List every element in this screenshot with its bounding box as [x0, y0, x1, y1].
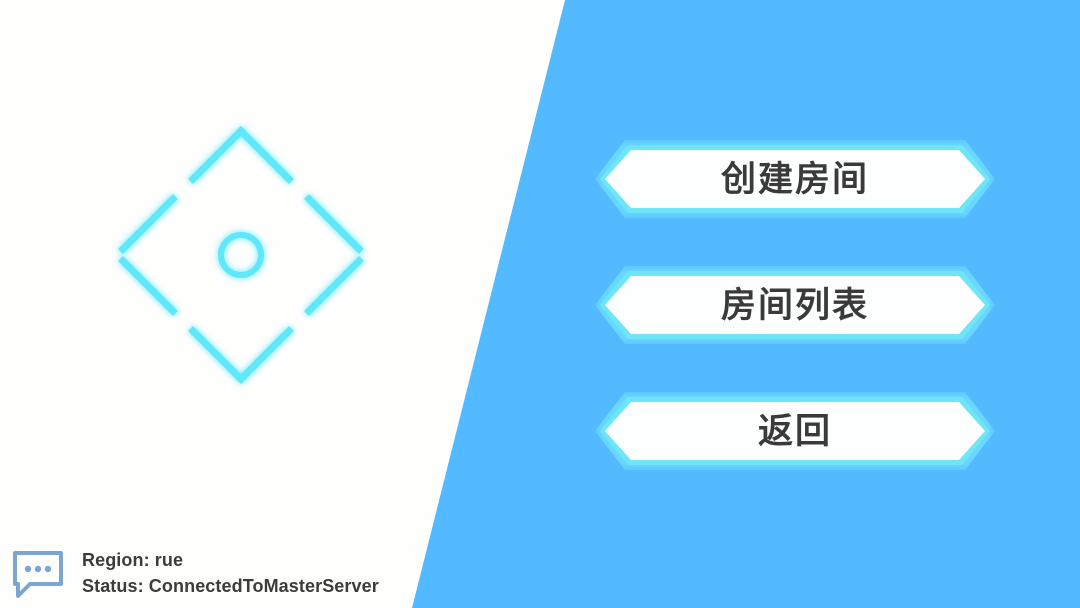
diamond-logo: [105, 119, 377, 403]
room-list-button[interactable]: 房间列表: [600, 271, 990, 339]
create-room-button[interactable]: 创建房间: [600, 145, 990, 213]
back-label: 返回: [600, 397, 990, 465]
back-button[interactable]: 返回: [600, 397, 990, 465]
region-line: Region: rue: [82, 551, 379, 569]
status-text-lines: Region: rue Status: ConnectedToMasterSer…: [82, 551, 379, 597]
status-line: Status: ConnectedToMasterServer: [82, 577, 379, 595]
main-menu: 创建房间 房间列表 返回: [600, 145, 990, 465]
create-room-label: 创建房间: [600, 145, 990, 213]
game-lobby-screen: Region: rue Status: ConnectedToMasterSer…: [0, 0, 1080, 608]
connection-status-block: Region: rue Status: ConnectedToMasterSer…: [10, 548, 379, 600]
room-list-label: 房间列表: [600, 271, 990, 339]
chat-bubble-icon: [10, 548, 66, 600]
